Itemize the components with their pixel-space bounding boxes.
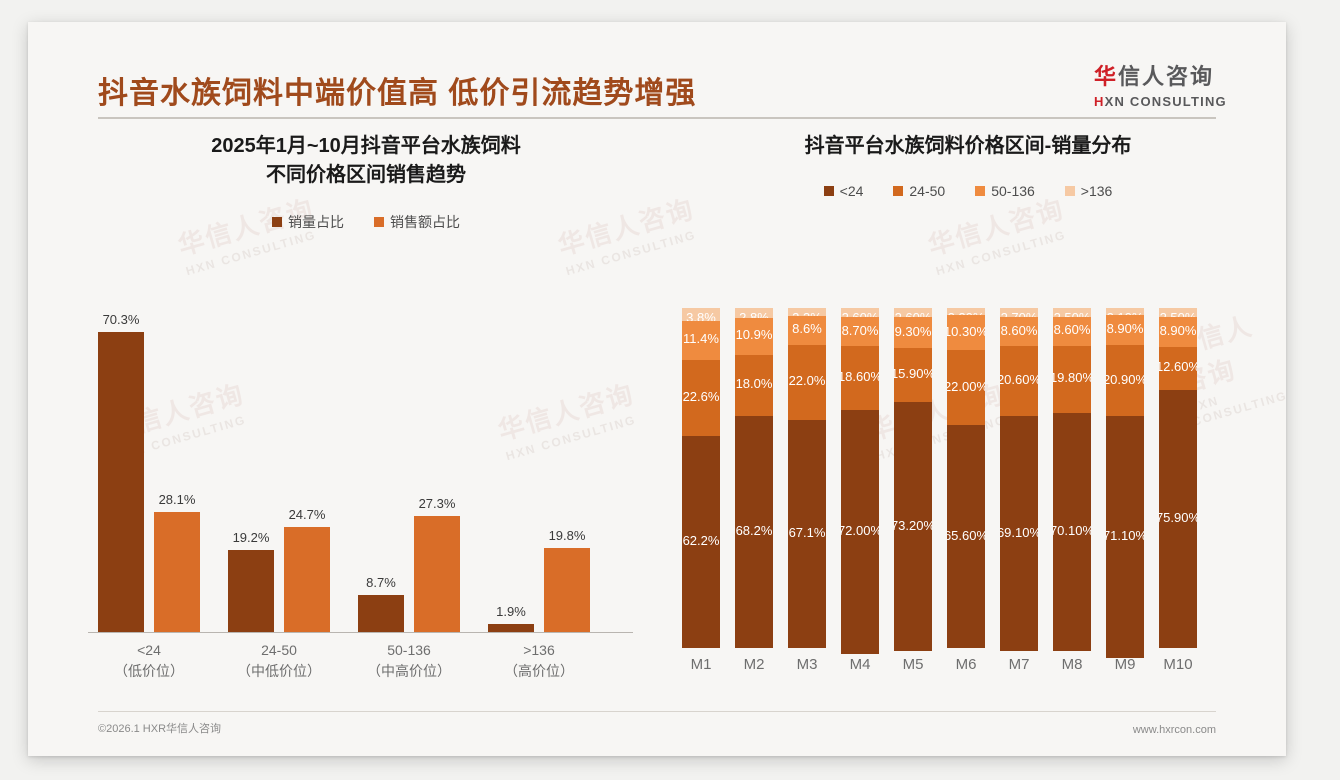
stacked-bar-segment[interactable]: 70.10%: [1053, 413, 1091, 651]
segment-value-label: 67.1%: [789, 525, 826, 540]
legend-swatch-icon: [1065, 186, 1075, 196]
stacked-bar-segment[interactable]: 9.30%: [894, 317, 932, 349]
segment-value-label: 62.2%: [683, 533, 720, 548]
segment-value-label: 22.6%: [683, 389, 720, 404]
stacked-bar[interactable]: 2.60%9.30%15.90%73.20%: [894, 308, 932, 648]
stacked-bar-segment[interactable]: 22.0%: [788, 345, 826, 420]
x-axis-tick-category: >136: [474, 640, 604, 661]
bar[interactable]: [284, 527, 330, 632]
segment-value-label: 8.60%: [1054, 322, 1091, 337]
left-chart-axis-line: [88, 632, 633, 633]
bar-value-label: 27.3%: [402, 496, 472, 511]
segment-value-label: 22.00%: [947, 379, 985, 394]
stacked-bar[interactable]: 2.60%8.70%18.60%72.00%: [841, 308, 879, 648]
segment-value-label: 8.6%: [792, 321, 822, 336]
footer-divider: [98, 711, 1216, 712]
stacked-bar-segment[interactable]: 19.80%: [1053, 346, 1091, 413]
x-axis-tick: M5: [883, 656, 943, 673]
segment-value-label: 8.70%: [842, 323, 879, 338]
legend-label: 销量占比: [288, 212, 344, 232]
stacked-bar-segment[interactable]: 2.50%: [1159, 308, 1197, 317]
segment-value-label: 72.00%: [841, 523, 879, 538]
stacked-bar-segment[interactable]: 22.6%: [682, 360, 720, 437]
segment-value-label: 2.8%: [739, 310, 769, 318]
bar-value-label: 24.7%: [272, 507, 342, 522]
stacked-bar[interactable]: 2.50%8.60%19.80%70.10%: [1053, 308, 1091, 648]
right-chart-title: 抖音平台水族饲料价格区间-销量分布: [668, 132, 1268, 161]
segment-value-label: 71.10%: [1106, 528, 1144, 543]
x-axis-tick: M9: [1095, 656, 1155, 673]
x-axis-tick: 50-136（中高价位）: [344, 640, 474, 682]
bar-value-label: 1.9%: [476, 604, 546, 619]
x-axis-tick: <24（低价位）: [84, 640, 214, 682]
stacked-bar-segment[interactable]: 2.20%: [947, 308, 985, 315]
right-chart-legend: <2424-5050-136>136: [668, 183, 1268, 199]
segment-value-label: 10.9%: [736, 327, 773, 342]
stacked-bar-segment[interactable]: 72.00%: [841, 410, 879, 655]
stacked-bar[interactable]: 2.3%8.6%22.0%67.1%: [788, 308, 826, 648]
left-chart-title-line1: 2025年1月~10月抖音平台水族饲料: [76, 132, 656, 161]
segment-value-label: 68.2%: [736, 523, 773, 538]
legend-item[interactable]: <24: [824, 183, 864, 199]
stacked-bar-segment[interactable]: 2.10%: [1106, 308, 1144, 315]
stacked-bar-segment[interactable]: 18.0%: [735, 355, 773, 416]
stacked-bar-segment[interactable]: 18.60%: [841, 346, 879, 409]
stacked-bar-segment[interactable]: 67.1%: [788, 420, 826, 648]
stacked-bar[interactable]: 2.8%10.9%18.0%68.2%: [735, 308, 773, 648]
legend-label: <24: [840, 183, 864, 199]
bar[interactable]: [414, 516, 460, 632]
x-axis-tick-sublabel: （低价位）: [84, 661, 214, 682]
stacked-bar[interactable]: 2.20%10.30%22.00%65.60%: [947, 308, 985, 648]
legend-swatch-icon: [272, 217, 282, 227]
left-chart-panel: 2025年1月~10月抖音平台水族饲料 不同价格区间销售趋势 销量占比销售额占比…: [76, 132, 656, 692]
legend-swatch-icon: [824, 186, 834, 196]
logo-chinese-text: 华信人咨询: [1094, 66, 1244, 88]
legend-label: >136: [1081, 183, 1113, 199]
segment-value-label: 70.10%: [1053, 523, 1091, 538]
segment-value-label: 73.20%: [894, 518, 932, 533]
x-axis-tick-sublabel: （中高价位）: [344, 661, 474, 682]
legend-item[interactable]: 销量占比: [272, 212, 344, 232]
x-axis-tick-category: <24: [84, 640, 214, 661]
legend-swatch-icon: [893, 186, 903, 196]
stacked-bar-segment[interactable]: 10.30%: [947, 315, 985, 350]
bar-value-label: 28.1%: [142, 492, 212, 507]
x-axis-tick-sublabel: （高价位）: [474, 661, 604, 682]
legend-swatch-icon: [975, 186, 985, 196]
x-axis-tick: M8: [1042, 656, 1102, 673]
segment-value-label: 8.90%: [1160, 323, 1197, 338]
segment-value-label: 18.0%: [736, 376, 773, 391]
stacked-bar-segment[interactable]: 2.70%: [1000, 308, 1038, 317]
segment-value-label: 20.90%: [1106, 372, 1144, 387]
segment-value-label: 19.80%: [1053, 370, 1091, 385]
legend-label: 销售额占比: [390, 212, 460, 232]
bar-value-label: 19.2%: [216, 530, 286, 545]
logo-en-rest: XN CONSULTING: [1105, 94, 1227, 109]
stacked-bar-segment[interactable]: 8.70%: [841, 317, 879, 347]
stacked-bar-segment[interactable]: 65.60%: [947, 425, 985, 648]
stacked-bar-segment[interactable]: 75.90%: [1159, 390, 1197, 648]
stacked-bar-segment[interactable]: 8.90%: [1159, 317, 1197, 347]
legend-item[interactable]: 销售额占比: [374, 212, 460, 232]
segment-value-label: 15.90%: [894, 366, 932, 381]
stacked-bar-segment[interactable]: 69.10%: [1000, 416, 1038, 651]
bar[interactable]: [228, 550, 274, 632]
bar-value-label: 19.8%: [532, 528, 602, 543]
logo-char-hua: 华: [1094, 64, 1118, 89]
segment-value-label: 8.60%: [1001, 323, 1038, 338]
segment-value-label: 2.60%: [842, 310, 879, 317]
x-axis-tick: M4: [830, 656, 890, 673]
legend-label: 50-136: [991, 183, 1035, 199]
bar[interactable]: [488, 624, 534, 632]
legend-label: 24-50: [909, 183, 945, 199]
x-axis-tick: M3: [777, 656, 837, 673]
legend-item[interactable]: 24-50: [893, 183, 945, 199]
footer-copyright: ©2026.1 HXR华信人咨询: [98, 720, 221, 736]
x-axis-tick: M10: [1148, 656, 1208, 673]
stacked-bar-segment[interactable]: 2.3%: [788, 308, 826, 316]
segment-value-label: 12.60%: [1159, 359, 1197, 374]
segment-value-label: 10.30%: [947, 324, 985, 339]
title-divider: [98, 117, 1216, 119]
stacked-bar-segment[interactable]: 68.2%: [735, 416, 773, 648]
bar[interactable]: [98, 332, 144, 632]
stacked-bar-segment[interactable]: 10.9%: [735, 318, 773, 355]
legend-swatch-icon: [374, 217, 384, 227]
segment-value-label: 2.60%: [895, 310, 932, 317]
x-axis-tick: >136（高价位）: [474, 640, 604, 682]
segment-value-label: 18.60%: [841, 369, 879, 384]
stacked-bar-segment[interactable]: 8.90%: [1106, 315, 1144, 345]
stacked-bar[interactable]: 2.70%8.60%20.60%69.10%: [1000, 308, 1038, 648]
x-axis-tick: M1: [671, 656, 731, 673]
x-axis-tick: M6: [936, 656, 996, 673]
stacked-bar-segment[interactable]: 2.50%: [1053, 308, 1091, 317]
x-axis-tick-sublabel: （中低价位）: [214, 661, 344, 682]
segment-value-label: 2.70%: [1001, 310, 1038, 317]
bar[interactable]: [358, 595, 404, 632]
stacked-bar-segment[interactable]: 20.90%: [1106, 345, 1144, 416]
stacked-bar-segment[interactable]: 15.90%: [894, 348, 932, 402]
logo-english-text: HXN CONSULTING: [1094, 94, 1244, 109]
segment-value-label: 20.60%: [1000, 372, 1038, 387]
stacked-bar[interactable]: 2.10%8.90%20.90%71.10%: [1106, 308, 1144, 648]
stacked-bar-segment[interactable]: 71.10%: [1106, 416, 1144, 658]
stacked-bar-segment[interactable]: 12.60%: [1159, 347, 1197, 390]
segment-value-label: 9.30%: [895, 324, 932, 339]
company-logo: 华信人咨询 HXN CONSULTING: [1094, 66, 1244, 109]
segment-value-label: 11.4%: [683, 331, 719, 346]
right-chart-panel: 抖音平台水族饲料价格区间-销量分布 <2424-5050-136>136 3.8…: [668, 132, 1268, 692]
logo-rest-cn: 信人咨询: [1118, 64, 1214, 89]
segment-value-label: 8.90%: [1107, 321, 1144, 336]
bar[interactable]: [154, 512, 200, 632]
stacked-bar-segment[interactable]: 8.60%: [1000, 317, 1038, 346]
x-axis-tick: 24-50（中低价位）: [214, 640, 344, 682]
logo-en-h: H: [1094, 94, 1105, 109]
stacked-bar-segment[interactable]: 62.2%: [682, 436, 720, 647]
stacked-bar-segment[interactable]: 11.4%: [682, 321, 720, 360]
x-axis-tick: M2: [724, 656, 784, 673]
stacked-bar-segment[interactable]: 2.8%: [735, 308, 773, 318]
stacked-bar-segment[interactable]: 3.8%: [682, 308, 720, 321]
stacked-bar-segment[interactable]: 22.00%: [947, 350, 985, 425]
stacked-bar-segment[interactable]: 2.60%: [841, 308, 879, 317]
bar[interactable]: [544, 548, 590, 632]
stacked-bar[interactable]: 3.8%11.4%22.6%62.2%: [682, 308, 720, 648]
left-chart-title-line2: 不同价格区间销售趋势: [76, 161, 656, 190]
legend-item[interactable]: 50-136: [975, 183, 1035, 199]
slide-canvas: 抖音水族饲料中端价值高 低价引流趋势增强 华信人咨询 HXN CONSULTIN…: [28, 22, 1286, 756]
x-axis-tick-category: 50-136: [344, 640, 474, 661]
x-axis-tick: M7: [989, 656, 1049, 673]
left-chart-title: 2025年1月~10月抖音平台水族饲料 不同价格区间销售趋势: [76, 132, 656, 190]
footer-website: www.hxrcon.com: [1133, 724, 1216, 736]
stacked-bar-segment[interactable]: 8.60%: [1053, 317, 1091, 346]
slide-header: 抖音水族饲料中端价值高 低价引流趋势增强 华信人咨询 HXN CONSULTIN…: [28, 22, 1286, 118]
stacked-bar-segment[interactable]: 73.20%: [894, 402, 932, 651]
segment-value-label: 75.90%: [1159, 510, 1197, 525]
bar-value-label: 8.7%: [346, 575, 416, 590]
stacked-bar-segment[interactable]: 2.60%: [894, 308, 932, 317]
legend-item[interactable]: >136: [1065, 183, 1113, 199]
x-axis-tick-category: 24-50: [214, 640, 344, 661]
stacked-bar[interactable]: 2.50%8.90%12.60%75.90%: [1159, 308, 1197, 648]
bar-value-label: 70.3%: [86, 312, 156, 327]
segment-value-label: 22.0%: [789, 373, 826, 388]
left-chart-plot: 70.3%28.1%19.2%24.7%8.7%27.3%1.9%19.8%: [76, 312, 656, 632]
segment-value-label: 69.10%: [1000, 525, 1038, 540]
segment-value-label: 65.60%: [947, 528, 985, 543]
segment-value-label: 3.8%: [686, 310, 716, 321]
stacked-bar-segment[interactable]: 8.6%: [788, 316, 826, 345]
stacked-bar-segment[interactable]: 20.60%: [1000, 346, 1038, 416]
right-chart-plot: 3.8%11.4%22.6%62.2%2.8%10.9%18.0%68.2%2.…: [668, 308, 1268, 648]
page-title: 抖音水族饲料中端价值高 低价引流趋势增强: [98, 68, 696, 112]
left-chart-legend: 销量占比销售额占比: [76, 212, 656, 232]
